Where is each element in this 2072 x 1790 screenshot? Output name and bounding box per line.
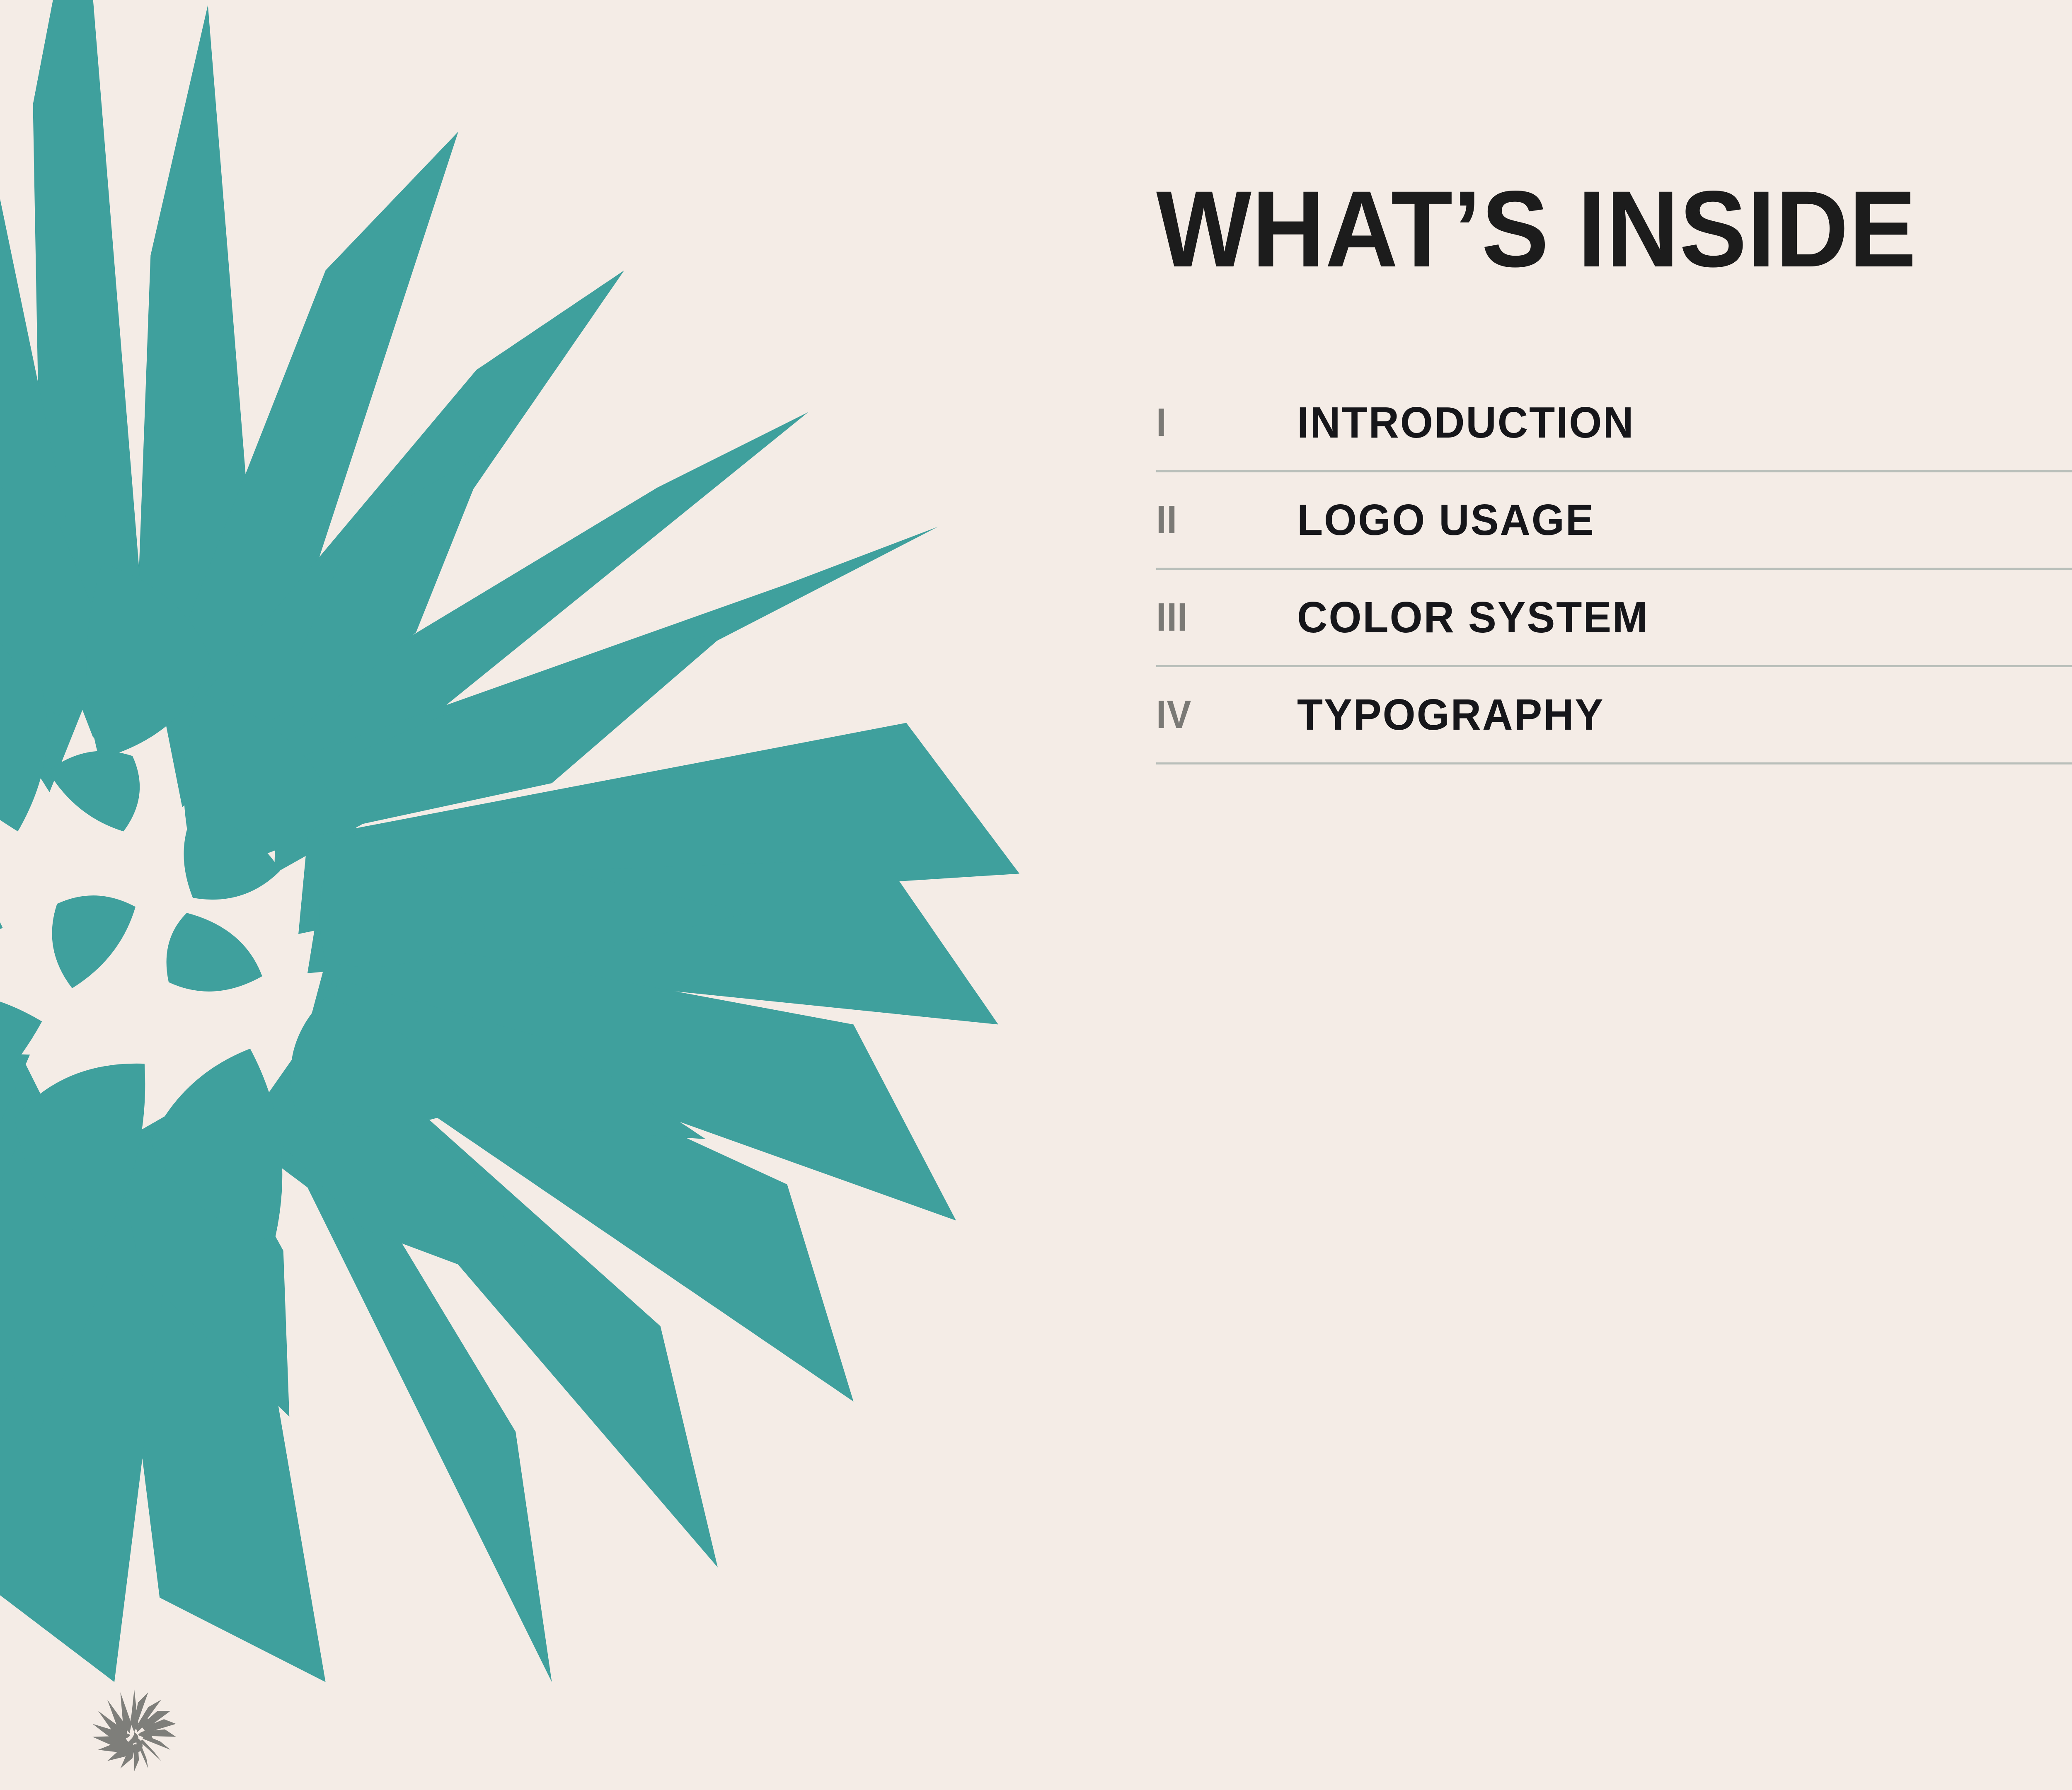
toc-row-color-system[interactable]: III COLOR SYSTEM 0 9: [1156, 570, 2072, 667]
toc-numeral: II: [1156, 500, 1286, 540]
toc-numeral: IV: [1156, 695, 1286, 735]
toc-label: INTRODUCTION: [1297, 401, 2072, 445]
toc-label: COLOR SYSTEM: [1297, 595, 2072, 639]
agave-illustration: [0, 0, 1019, 1682]
toc-row-introduction[interactable]: I INTRODUCTION 0 2: [1156, 375, 2072, 472]
toc-label: TYPOGRAPHY: [1297, 693, 2072, 737]
agave-logo-mark: [88, 1684, 181, 1777]
toc-numeral: III: [1156, 597, 1286, 637]
content-column: WHAT’S INSIDE I INTRODUCTION 0 2 II LOGO…: [1156, 0, 2072, 1790]
toc-row-typography[interactable]: IV TYPOGRAPHY 1 3: [1156, 667, 2072, 764]
page-title: WHAT’S INSIDE: [1156, 175, 1917, 283]
table-of-contents: I INTRODUCTION 0 2 II LOGO USAGE 0 4 III…: [1156, 375, 2072, 764]
toc-row-logo-usage[interactable]: II LOGO USAGE 0 4: [1156, 472, 2072, 570]
slide-canvas: WHAT’S INSIDE I INTRODUCTION 0 2 II LOGO…: [0, 0, 2072, 1790]
toc-label: LOGO USAGE: [1297, 498, 2072, 542]
toc-numeral: I: [1156, 403, 1286, 443]
